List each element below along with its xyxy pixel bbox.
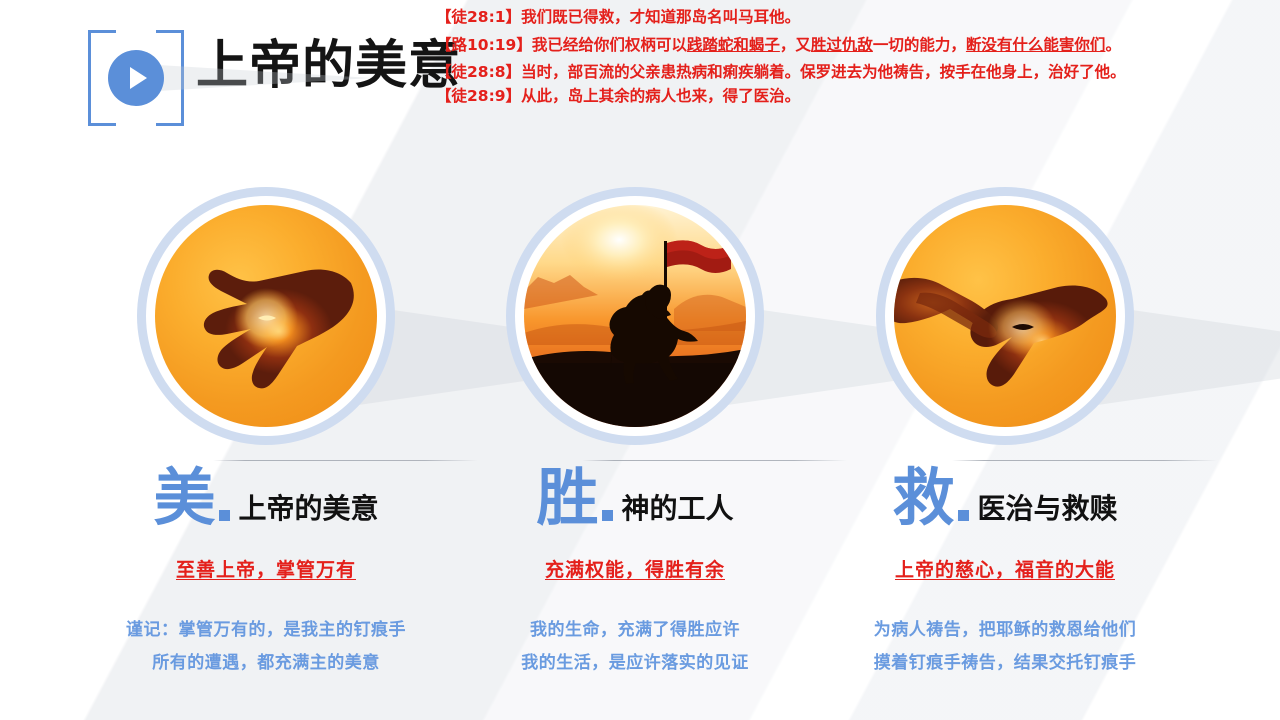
body-line: 摸着钉痕手祷告，结果交托钉痕手 xyxy=(792,647,1218,680)
column-title-row: 美 上帝的美意 xyxy=(53,462,479,528)
column-title-row: 胜 神的工人 xyxy=(422,462,848,528)
body-line: 所有的遭遇，都充满主的美意 xyxy=(53,647,479,680)
column-big-character: 胜 xyxy=(536,469,598,528)
title-dot-marker xyxy=(602,510,613,521)
column-body-text: 为病人祷告，把耶稣的救恩给他们 摸着钉痕手祷告，结果交托钉痕手 xyxy=(792,614,1218,680)
slide-canvas: 上帝的美意 【徒28:1】我们既已得救，才知道那岛名叫马耳他。 【路10:19】… xyxy=(0,0,1280,720)
column-blessing: 美 上帝的美意 至善上帝，掌管万有 谨记：掌管万有的，是我主的钉痕手 所有的遭遇… xyxy=(53,0,479,720)
column-subtitle: 上帝的美意 xyxy=(239,495,379,528)
column-separator-line xyxy=(952,460,1217,461)
horseman-silhouette-icon xyxy=(524,205,746,427)
image-ring xyxy=(155,205,377,427)
play-triangle-icon xyxy=(130,67,147,89)
body-line: 为病人祷告，把耶稣的救恩给他们 xyxy=(792,614,1218,647)
two-hands-silhouette-icon xyxy=(894,205,1116,427)
column-big-character: 美 xyxy=(153,469,215,528)
body-line: 我的生命，充满了得胜应许 xyxy=(422,614,848,647)
logo-long-shadow xyxy=(142,64,372,92)
column-victory: 胜 神的工人 充满权能，得胜有余 我的生命，充满了得胜应许 我的生活，是应许落实… xyxy=(422,0,848,720)
image-ring xyxy=(524,205,746,427)
play-button-icon[interactable] xyxy=(108,50,164,106)
three-column-section: 美 上帝的美意 至善上帝，掌管万有 谨记：掌管万有的，是我主的钉痕手 所有的遭遇… xyxy=(0,0,1280,720)
image-ring xyxy=(894,205,1116,427)
column-subtitle: 医治与救赎 xyxy=(978,495,1118,528)
column-slogan: 至善上帝，掌管万有 xyxy=(53,555,479,582)
column-title-row: 救 医治与救赎 xyxy=(792,462,1218,528)
title-dot-marker xyxy=(958,510,969,521)
column-big-character: 救 xyxy=(892,469,954,528)
column-body-text: 谨记：掌管万有的，是我主的钉痕手 所有的遭遇，都充满主的美意 xyxy=(53,614,479,680)
title-dot-marker xyxy=(219,510,230,521)
horseman-with-banner-image[interactable] xyxy=(524,205,746,427)
column-image-holder xyxy=(155,205,377,427)
body-line: 谨记：掌管万有的，是我主的钉痕手 xyxy=(53,614,479,647)
column-slogan: 上帝的慈心，福音的大能 xyxy=(792,555,1218,582)
body-line: 我的生活，是应许落实的见证 xyxy=(422,647,848,680)
column-slogan: 充满权能，得胜有余 xyxy=(422,555,848,582)
open-hand-silhouette-icon xyxy=(155,205,377,427)
column-image-holder xyxy=(894,205,1116,427)
column-body-text: 我的生命，充满了得胜应许 我的生活，是应许落实的见证 xyxy=(422,614,848,680)
column-image-holder xyxy=(524,205,746,427)
two-hands-touching-nail-wound-image[interactable] xyxy=(894,205,1116,427)
nail-pierced-hand-image[interactable] xyxy=(155,205,377,427)
column-subtitle: 神的工人 xyxy=(622,495,734,528)
column-salvation: 救 医治与救赎 上帝的慈心，福音的大能 为病人祷告，把耶稣的救恩给他们 摸着钉痕… xyxy=(792,0,1218,720)
